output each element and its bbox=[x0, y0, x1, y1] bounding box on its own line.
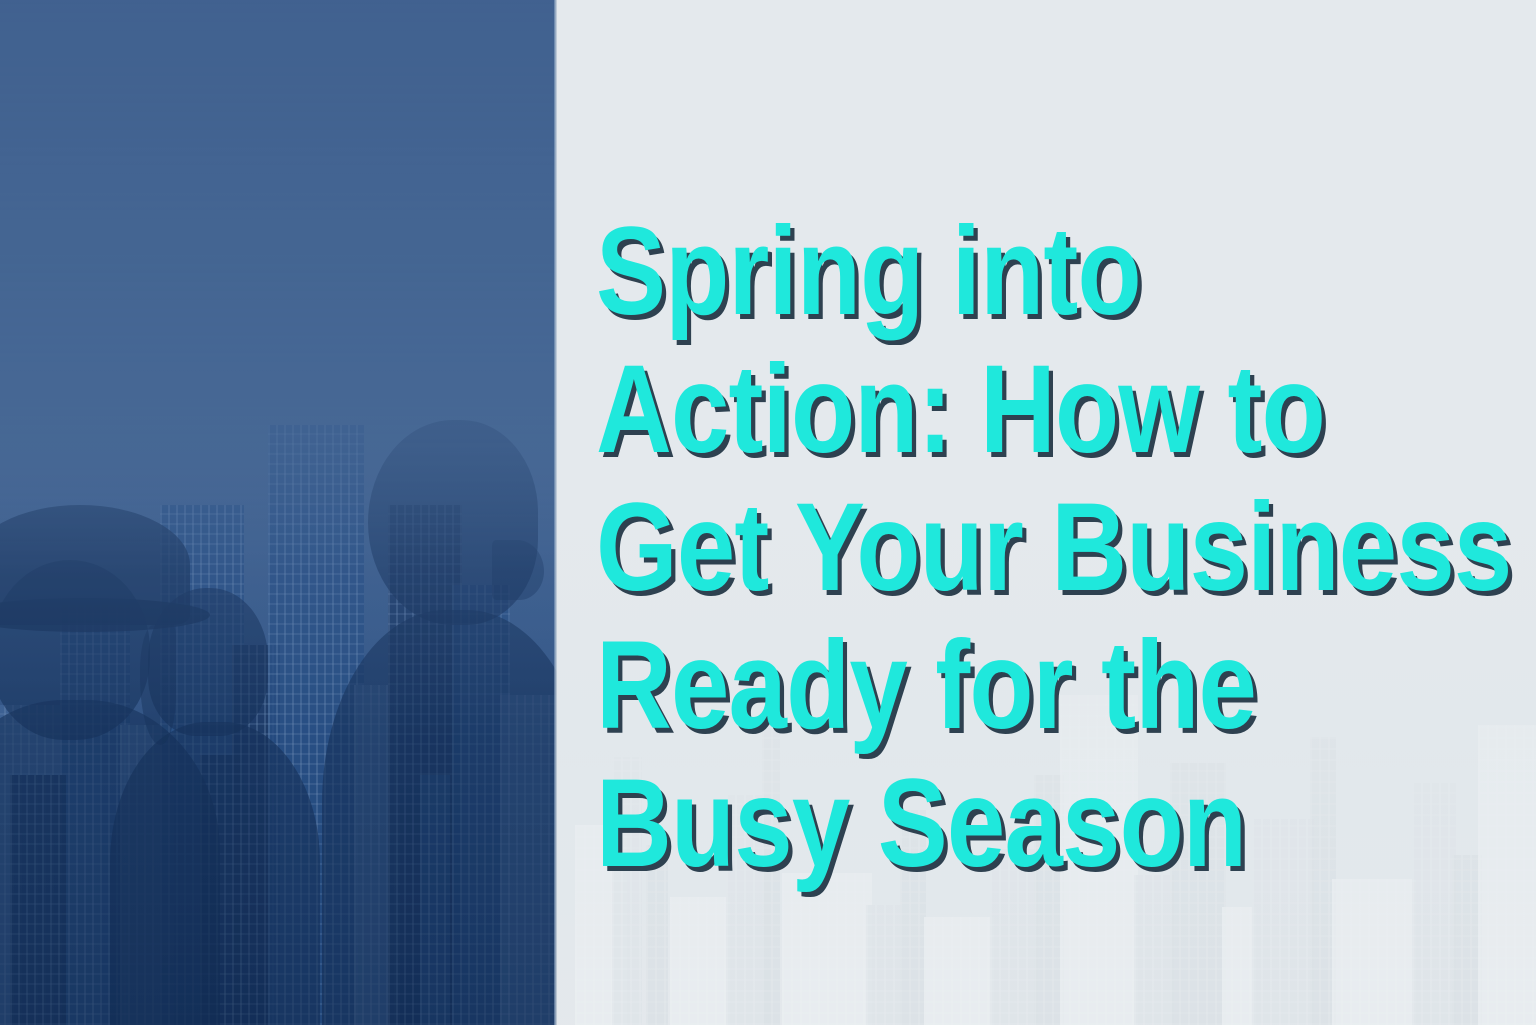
headline-line-4: Ready for the bbox=[596, 617, 1386, 755]
headline-line-5: Busy Season bbox=[596, 755, 1386, 893]
panel-divider-edge bbox=[554, 0, 557, 1025]
left-photo-panel bbox=[0, 0, 557, 1025]
headline-line-2: Action: How to bbox=[596, 341, 1386, 479]
headline-line-1: Spring into bbox=[596, 203, 1386, 341]
headline-line-3: Get Your Business bbox=[596, 479, 1386, 617]
headline-title: Spring into Action: How to Get Your Busi… bbox=[596, 203, 1536, 893]
blog-header-banner: Spring into Action: How to Get Your Busi… bbox=[0, 0, 1536, 1025]
left-panel-blue-tint bbox=[0, 0, 557, 1025]
